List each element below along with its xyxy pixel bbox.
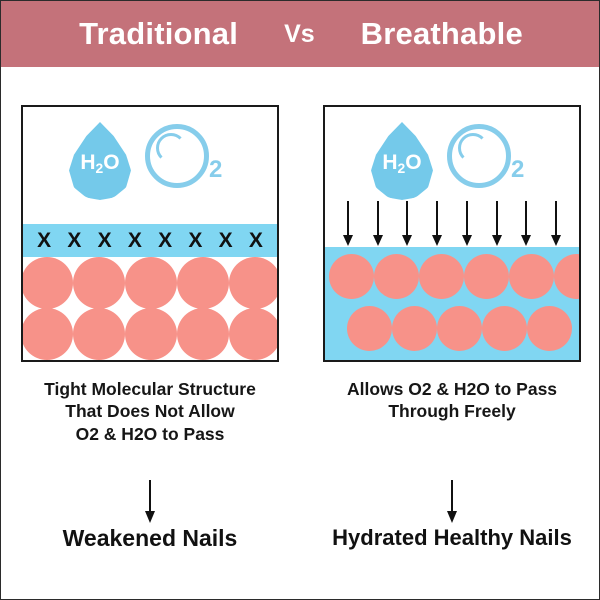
caption-breathable: Allows O2 & H2O to Pass Through Freely: [323, 378, 581, 423]
molecule-dot: [464, 254, 509, 299]
conclusion-breathable: Hydrated Healthy Nails: [323, 466, 581, 550]
molecule-dot: [329, 254, 374, 299]
x-mark-icon: X: [188, 230, 202, 251]
arrow-head: [551, 235, 561, 246]
water-formula-label: H2O: [371, 152, 433, 176]
water-h: H: [80, 151, 95, 174]
caption-line: Tight Molecular Structure: [21, 378, 279, 400]
conclusion-traditional: Weakened Nails: [21, 466, 279, 551]
tight-molecule-structure: [23, 257, 277, 360]
arrow-shaft: [377, 201, 379, 237]
molecule-icons-left: H2O 2: [23, 115, 277, 207]
molecule-row: [325, 253, 579, 299]
down-arrow-icon: [432, 201, 442, 247]
diagram-panel-breathable: H2O 2: [323, 105, 581, 362]
molecule-dot: [73, 257, 125, 309]
arrow-shaft: [496, 201, 498, 237]
water-o: O: [405, 151, 421, 174]
molecule-dot: [509, 254, 554, 299]
down-arrow-icon: [402, 201, 412, 247]
water-droplet-icon: H2O: [371, 122, 433, 200]
loose-molecule-structure: [325, 247, 579, 360]
down-arrow-icon: [521, 201, 531, 247]
molecule-dot: [125, 257, 177, 309]
arrow-shaft: [406, 201, 408, 237]
down-arrow-icon: [373, 201, 383, 247]
arrow-head: [521, 235, 531, 246]
molecule-dot: [437, 306, 482, 351]
water-droplet-icon: H2O: [69, 122, 131, 200]
arrow-shaft: [347, 201, 349, 237]
x-mark-icon: X: [158, 230, 172, 251]
arrow-shaft: [555, 201, 557, 237]
down-arrow-icon: [551, 201, 561, 247]
molecule-row: [21, 257, 279, 309]
arrow-head: [447, 511, 457, 523]
arrow-head: [432, 235, 442, 246]
molecule-dot: [374, 254, 419, 299]
arrow-head: [145, 511, 155, 523]
x-mark-icon: X: [128, 230, 142, 251]
arrow-head: [343, 235, 353, 246]
water-formula-label: H2O: [69, 152, 131, 176]
arrow-shaft: [436, 201, 438, 237]
header-title-breathable: Breathable: [361, 16, 523, 52]
oxygen-bubble-icon: 2: [145, 122, 231, 200]
down-arrow-icon: [462, 201, 472, 247]
caption-line: Through Freely: [323, 400, 581, 422]
molecule-dot: [125, 308, 177, 360]
molecule-dot: [419, 254, 464, 299]
conclusion-text-weakened: Weakened Nails: [21, 526, 279, 551]
oxygen-subscript: 2: [209, 158, 222, 182]
header-vs-label: Vs: [284, 20, 315, 49]
arrow-head: [373, 235, 383, 246]
x-mark-icon: X: [67, 230, 81, 251]
barrier-band-with-x-marks: X X X X X X X X: [23, 224, 277, 257]
molecule-dot: [73, 308, 125, 360]
x-mark-icon: X: [249, 230, 263, 251]
x-mark-icon: X: [98, 230, 112, 251]
diagram-panel-traditional: H2O 2 X X X X X X X X: [21, 105, 279, 362]
arrow-shaft: [525, 201, 527, 237]
conclusion-arrow-icon: [446, 480, 458, 526]
water-o: O: [103, 151, 119, 174]
molecule-icons-right: H2O 2: [325, 115, 579, 207]
molecule-dot: [229, 308, 279, 360]
caption-line: That Does Not Allow: [21, 400, 279, 422]
header-band: Traditional Vs Breathable: [1, 1, 600, 67]
conclusion-text-hydrated: Hydrated Healthy Nails: [323, 526, 581, 550]
oxygen-bubble-icon: 2: [447, 122, 533, 200]
infographic-root: Traditional Vs Breathable H2O 2 X X: [0, 0, 600, 600]
caption-line: O2 & H2O to Pass: [21, 423, 279, 445]
x-mark-icon: X: [219, 230, 233, 251]
arrow-shaft: [466, 201, 468, 237]
molecule-dot: [347, 306, 392, 351]
arrow-head: [402, 235, 412, 246]
arrow-shaft: [149, 480, 151, 514]
water-h: H: [382, 151, 397, 174]
molecule-dot: [177, 308, 229, 360]
arrow-shaft: [451, 480, 453, 514]
caption-traditional: Tight Molecular Structure That Does Not …: [21, 378, 279, 445]
molecule-dot: [554, 254, 581, 299]
arrow-head: [492, 235, 502, 246]
x-mark-icon: X: [37, 230, 51, 251]
permeation-arrows: [325, 195, 579, 247]
conclusion-arrow-icon: [144, 480, 156, 526]
molecule-dot: [21, 308, 73, 360]
molecule-dot: [21, 257, 73, 309]
oxygen-subscript: 2: [511, 158, 524, 182]
header-title-traditional: Traditional: [79, 16, 238, 52]
arrow-head: [462, 235, 472, 246]
molecule-dot: [229, 257, 279, 309]
down-arrow-icon: [343, 201, 353, 247]
molecule-row: [325, 305, 579, 351]
down-arrow-icon: [492, 201, 502, 247]
caption-line: Allows O2 & H2O to Pass: [323, 378, 581, 400]
molecule-dot: [527, 306, 572, 351]
molecule-dot: [177, 257, 229, 309]
molecule-dot: [482, 306, 527, 351]
column-breathable: H2O 2: [323, 105, 581, 423]
molecule-row: [21, 308, 279, 360]
molecule-dot: [392, 306, 437, 351]
column-traditional: H2O 2 X X X X X X X X: [21, 105, 279, 445]
